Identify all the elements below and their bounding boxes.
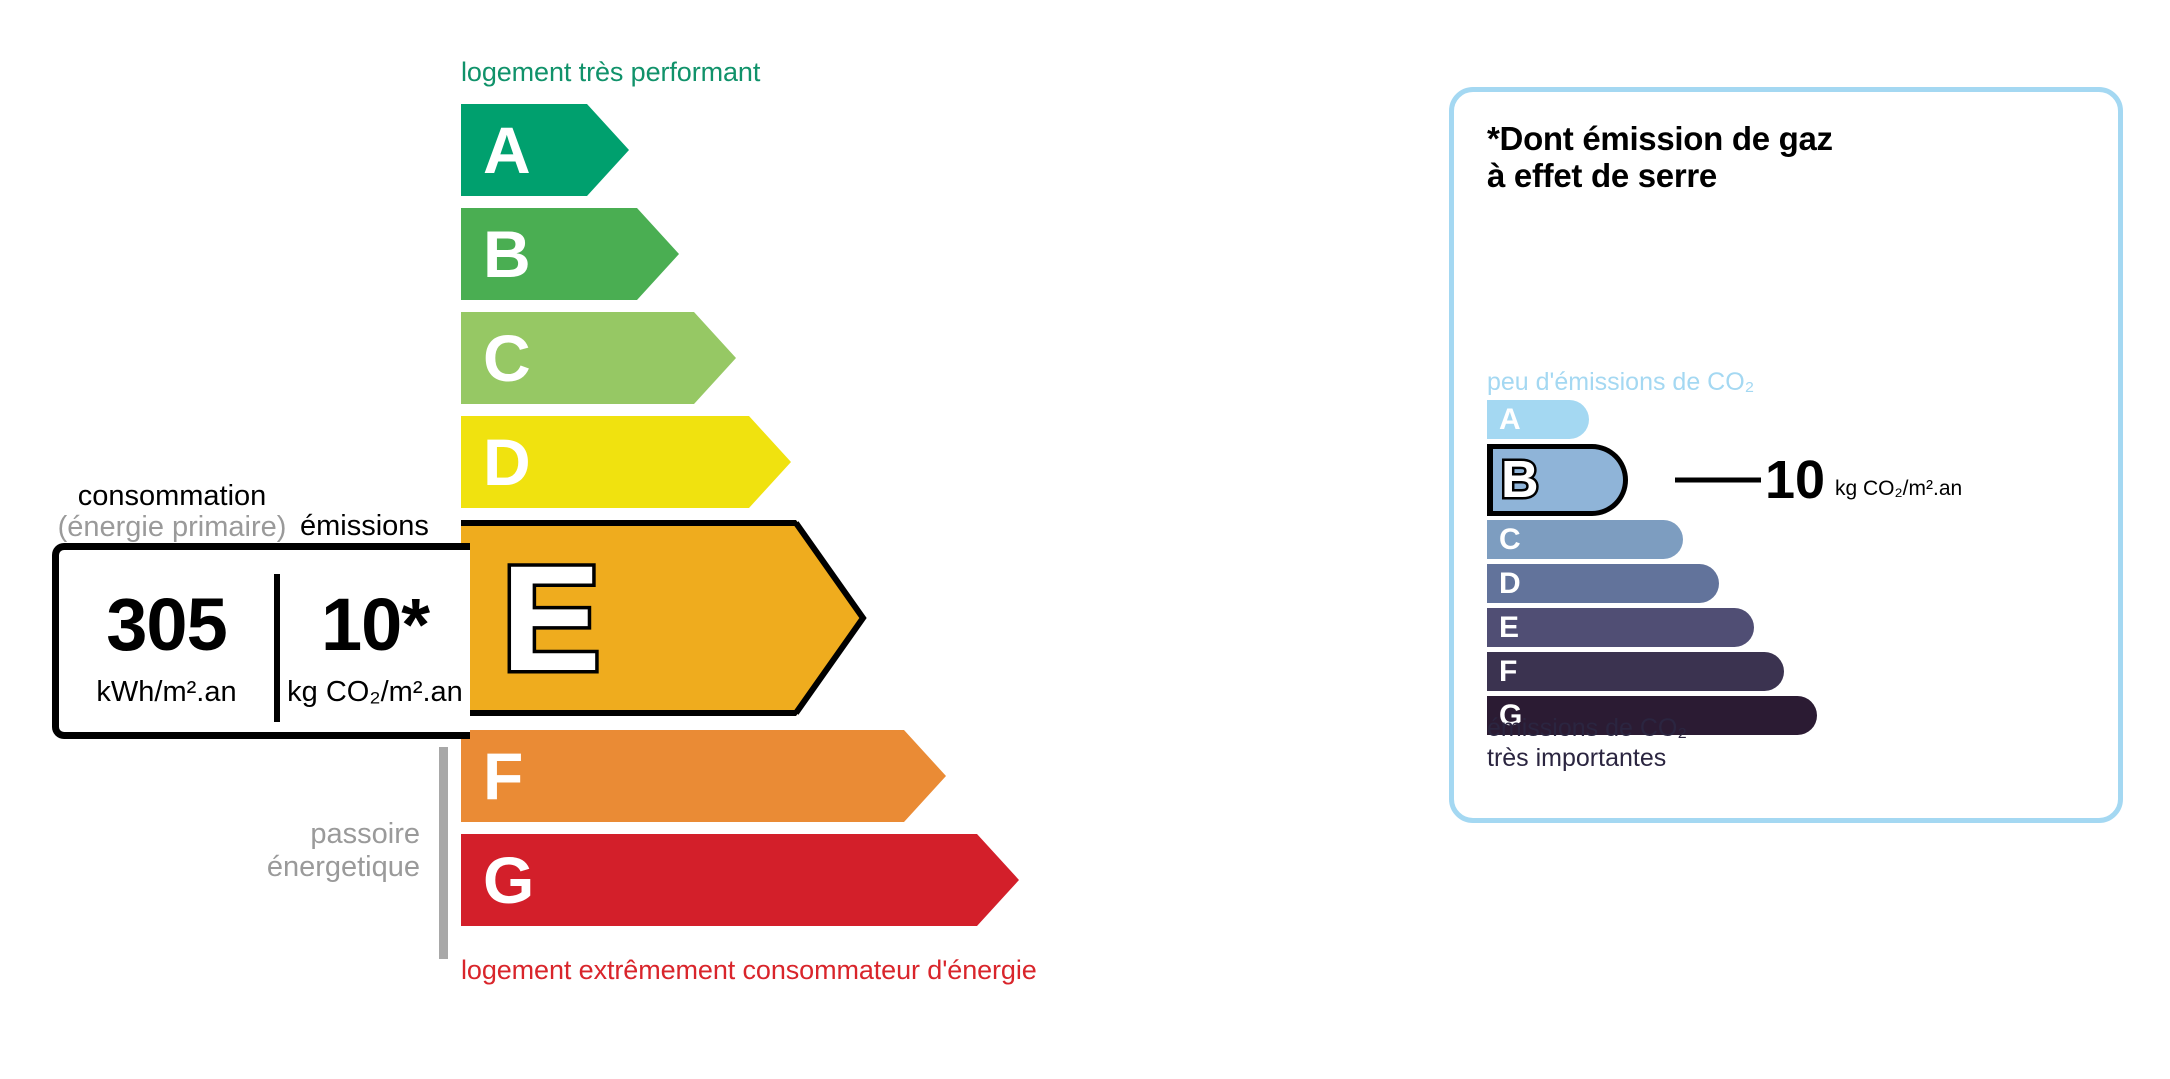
consumption-unit: kWh/m².an	[59, 678, 274, 707]
energy-letter-e: E	[501, 543, 601, 693]
energy-bar-f: F	[461, 730, 946, 822]
co2-row-b-selected: B 10 kg CO₂/m².an	[1487, 444, 2107, 516]
consumption-label-group: consommation (énergie primaire)	[57, 481, 287, 544]
co2-row-c: C	[1487, 520, 2107, 559]
consumption-value-cell: 305 kWh/m².an	[59, 550, 274, 732]
co2-letter-c: C	[1499, 525, 1521, 555]
energy-row-b: B	[461, 208, 1341, 300]
energy-bar-e: E	[461, 520, 866, 716]
energy-row-f: F	[461, 730, 1341, 822]
co2-bar-d: D	[1487, 564, 1719, 603]
co2-top-caption: peu d'émissions de CO₂	[1487, 370, 1754, 395]
energy-row-c: C	[461, 312, 1341, 404]
passoire-marker-bar	[439, 747, 448, 959]
emissions-unit: kg CO₂/m².an	[280, 678, 470, 707]
energy-bar-g: G	[461, 834, 1019, 926]
dpe-label: logement très performant A B C	[0, 0, 2170, 1079]
energy-letter-a: A	[483, 117, 531, 183]
co2-row-d: D	[1487, 564, 2107, 603]
consumption-value: 305	[59, 588, 274, 662]
energy-letter-d: D	[483, 429, 531, 495]
co2-letter-e: E	[1499, 613, 1519, 643]
co2-bar-e: E	[1487, 608, 1754, 647]
energy-scale-section: logement très performant A B C	[0, 0, 1340, 1079]
co2-class-rows: A B 10 kg CO₂/m².an C D	[1487, 400, 2107, 740]
co2-letter-f: F	[1499, 657, 1517, 687]
co2-panel-title: *Dont émission de gaz à effet de serre	[1487, 120, 1833, 195]
value-box: 305 kWh/m².an 10* kg CO₂/m².an	[52, 543, 470, 739]
co2-row-e: E	[1487, 608, 2107, 647]
energy-letter-b: B	[483, 221, 531, 287]
co2-panel: *Dont émission de gaz à effet de serre p…	[1449, 87, 2123, 823]
energy-bar-b: B	[461, 208, 679, 300]
co2-bar-c: C	[1487, 520, 1683, 559]
energy-letter-g: G	[483, 847, 534, 913]
energy-bar-c: C	[461, 312, 736, 404]
co2-letter-a: A	[1499, 405, 1521, 435]
energy-row-a: A	[461, 104, 1341, 196]
co2-letter-b: B	[1501, 454, 1539, 506]
co2-row-f: F	[1487, 652, 2107, 691]
energy-row-g: G	[461, 834, 1341, 926]
co2-bar-a: A	[1487, 400, 1589, 439]
energy-bar-d: D	[461, 416, 791, 508]
energy-bar-a: A	[461, 104, 629, 196]
energy-bottom-caption: logement extrêmement consommateur d'éner…	[461, 955, 1037, 986]
co2-bottom-caption: émissions de CO₂ très importantes	[1487, 714, 1687, 773]
energy-class-rows: A B C D	[461, 104, 1341, 938]
energy-letter-f: F	[483, 743, 523, 809]
energy-top-caption: logement très performant	[461, 57, 760, 88]
emissions-value: 10*	[280, 588, 470, 662]
co2-leader-line	[1675, 478, 1761, 483]
emissions-value-cell: 10* kg CO₂/m².an	[280, 550, 470, 732]
energy-letter-c: C	[483, 325, 531, 391]
passoire-label: passoire énergetique	[255, 818, 420, 885]
co2-row-a: A	[1487, 400, 2107, 439]
co2-unit: kg CO₂/m².an	[1835, 478, 1962, 499]
co2-value: 10	[1765, 453, 1825, 507]
co2-letter-d: D	[1499, 569, 1521, 599]
energy-row-e-selected: E	[461, 520, 1341, 716]
consumption-label: consommation	[78, 480, 267, 512]
energy-row-d: D	[461, 416, 1341, 508]
emissions-label: émissions	[300, 512, 429, 541]
co2-bar-f: F	[1487, 652, 1784, 691]
consumption-sublabel: (énergie primaire)	[57, 512, 287, 543]
